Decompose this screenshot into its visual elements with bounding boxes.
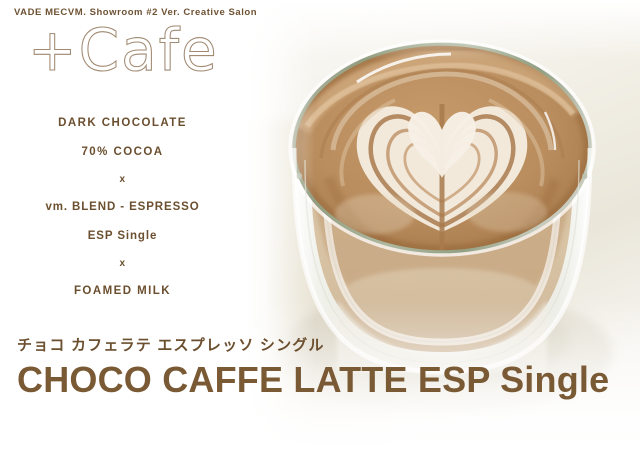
logo-text: +Cafe (28, 21, 219, 83)
ingredient-item: vm. BLEND - ESPRESSO (0, 202, 245, 214)
cafe-logo: +Cafe (28, 21, 223, 83)
ingredient-item: FOAMED MILK (0, 286, 245, 298)
page-title: CHOCO CAFFE LATTE ESP Single (17, 360, 609, 400)
subtitle-japanese: チョコ カフェラテ エスプレッソ シングル (17, 334, 325, 355)
ingredient-separator: x (0, 175, 245, 185)
tagline: VADE MECVM. Showroom #2 Ver. Creative Sa… (14, 7, 257, 18)
ingredient-list: DARK CHOCOLATE 70% COCOA x vm. BLEND - E… (0, 118, 245, 298)
ingredient-separator: x (0, 259, 245, 269)
ingredient-item: 70% COCOA (0, 147, 245, 159)
cafe-logo-outline-text: +Cafe (28, 21, 223, 83)
poster-canvas: VADE MECVM. Showroom #2 Ver. Creative Sa… (0, 0, 640, 451)
ingredient-item: DARK CHOCOLATE (0, 118, 245, 130)
ingredient-item: ESP Single (0, 231, 245, 243)
